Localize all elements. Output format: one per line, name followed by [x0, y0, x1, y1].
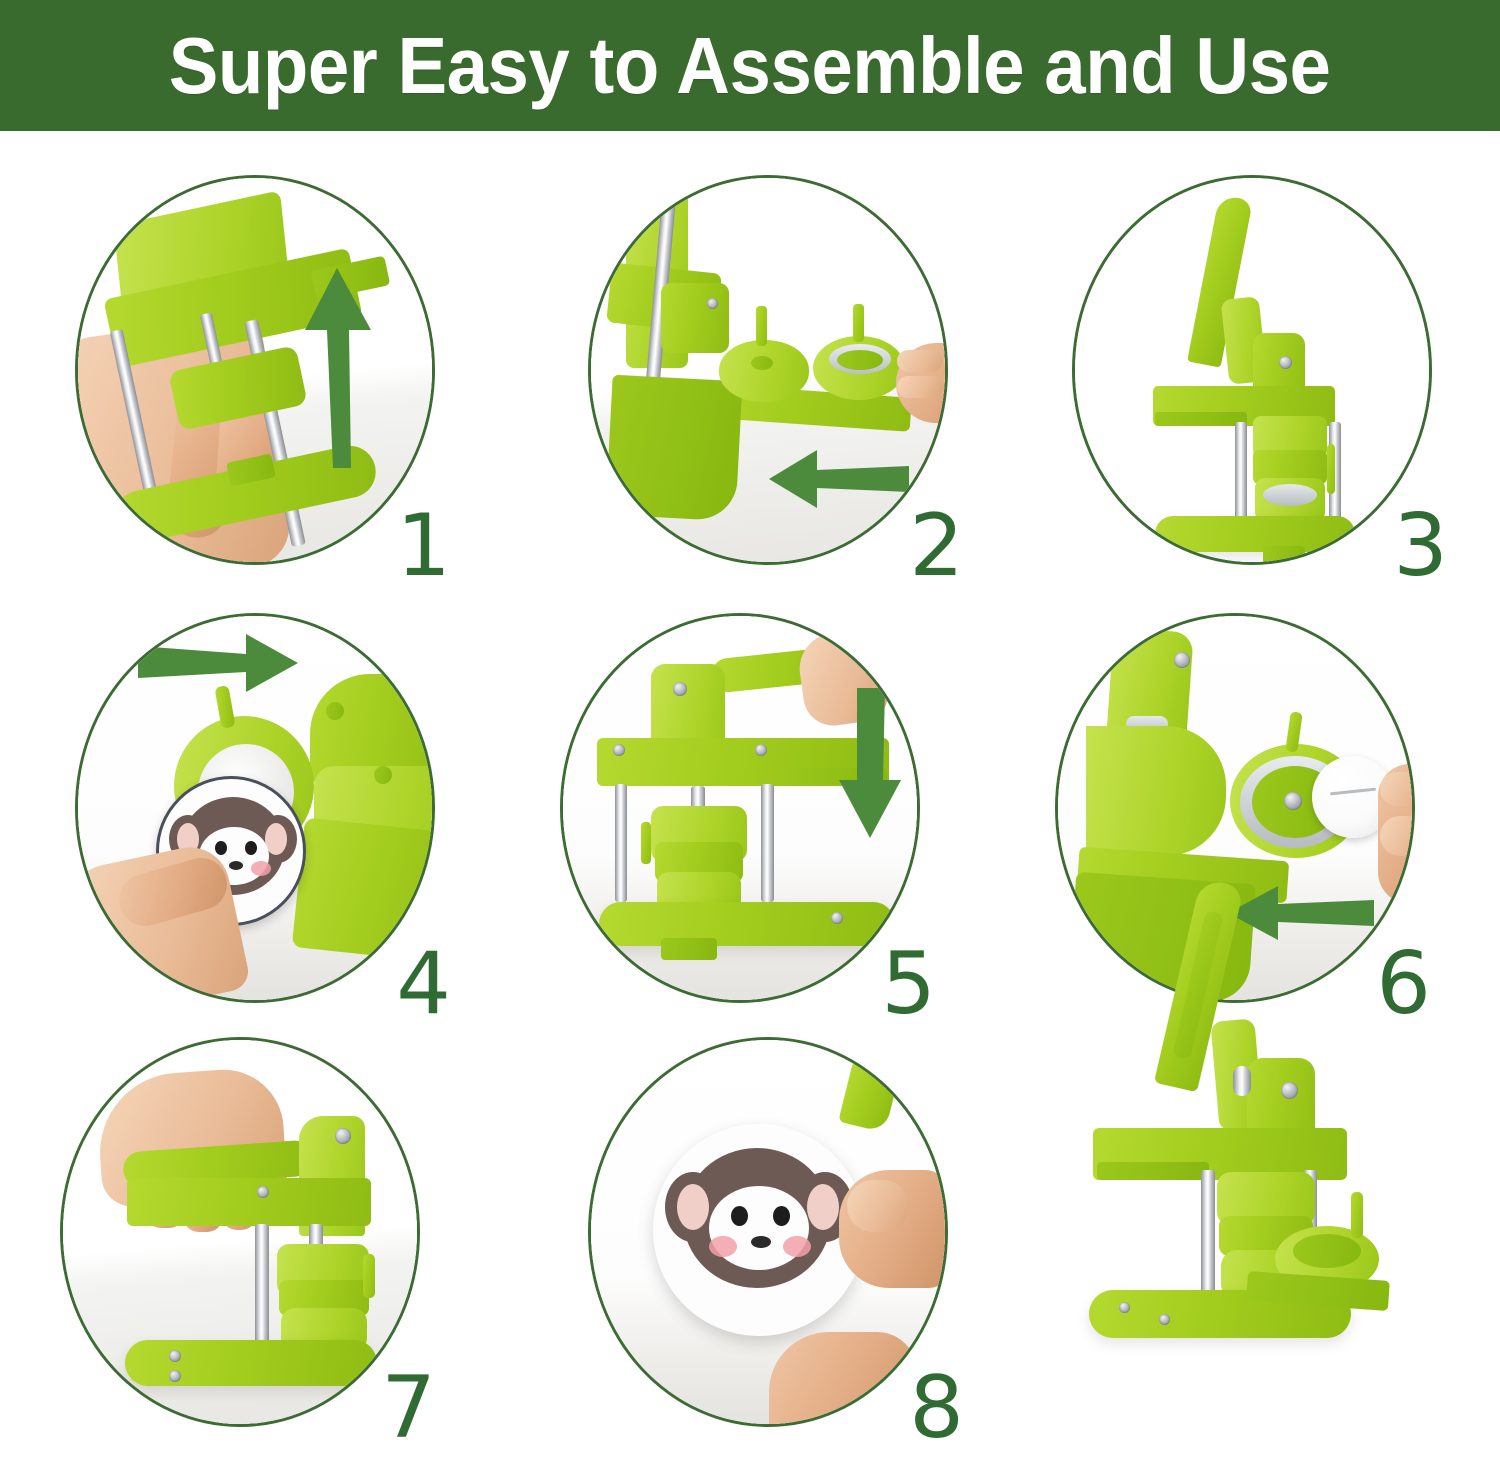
monkey-ear-left-inner [677, 1184, 709, 1230]
screw-icon [673, 682, 687, 696]
step-2-number: 2 [909, 503, 964, 589]
screw-icon [1119, 1302, 1130, 1313]
step-5-number: 5 [881, 941, 936, 1027]
step-3-photo [1075, 178, 1429, 562]
step-7-circle [60, 1037, 420, 1427]
die-latch [1327, 444, 1335, 494]
screw-icon [335, 1128, 351, 1144]
step-4-photo [78, 616, 432, 1000]
die-metal-ring [1263, 484, 1317, 506]
screw-icon [755, 744, 767, 756]
step-8: 8 [588, 1037, 960, 1437]
step-1-circle [75, 175, 435, 565]
step-2-photo [591, 178, 945, 562]
screw-icon [1279, 356, 1292, 369]
arrow-right-icon [138, 632, 298, 694]
monkey-cheek-right [783, 1236, 811, 1257]
screw-icon [1159, 1314, 1170, 1325]
step-2: 2 [588, 175, 960, 575]
screw-icon [831, 912, 843, 924]
finished-button [653, 1124, 865, 1336]
step-7: 7 [60, 1037, 432, 1437]
step-5-photo [563, 616, 917, 1000]
step-8-number: 8 [909, 1365, 964, 1451]
pivot-pin [1233, 1066, 1251, 1096]
monkey-face [709, 1186, 809, 1270]
step-2-circle [588, 175, 948, 565]
monkey-cheek-left [709, 1236, 737, 1257]
die-right-inner [837, 350, 883, 370]
step-3-circle [1072, 175, 1432, 565]
plate-teeth [1155, 412, 1247, 426]
plate-teeth [1097, 1162, 1209, 1180]
arrow-up-icon [293, 268, 383, 468]
step-4: 4 [75, 613, 447, 1013]
guide-rod-left [615, 784, 627, 902]
screw-icon [613, 744, 625, 756]
guide-rod-left [255, 1224, 269, 1354]
arrow-down-icon [835, 688, 905, 838]
monkey-eye-left [731, 1206, 748, 1226]
step-1-photo [78, 178, 432, 562]
finger [897, 350, 943, 372]
step-1: 1 [75, 175, 447, 575]
screw-icon [257, 1186, 269, 1198]
base-tab [1263, 546, 1305, 562]
finger [897, 376, 943, 398]
die-tray-inner [1293, 1234, 1361, 1268]
step-7-photo [63, 1040, 417, 1424]
base-tab [661, 938, 717, 960]
guide-rod-left [1235, 422, 1247, 520]
step-8-photo [591, 1040, 945, 1424]
step-4-circle [75, 613, 435, 1003]
step-5-circle [560, 613, 920, 1003]
die-left-pin [756, 306, 767, 346]
step-7-number: 7 [381, 1365, 436, 1451]
guide-rod-left [1201, 1170, 1215, 1306]
monkey-eye-right [245, 841, 257, 855]
top-plate [127, 1178, 371, 1226]
base-foot [605, 375, 742, 522]
screw-icon [169, 1370, 181, 1382]
instruction-infographic: Super Easy to Assemble and Use [0, 0, 1500, 1479]
screw-icon [1281, 1082, 1298, 1099]
finger [1380, 772, 1412, 806]
die-tray-pin [1351, 1192, 1363, 1238]
monkey-nose [751, 1236, 771, 1248]
die-right-pin [853, 304, 864, 342]
step-5: 5 [560, 613, 932, 1013]
die-latch [363, 1254, 375, 1298]
header-banner: Super Easy to Assemble and Use [0, 0, 1500, 131]
step-1-number: 1 [396, 503, 451, 589]
screw-icon [169, 1350, 181, 1362]
guide-rod-right [761, 784, 774, 902]
die-left-hole [751, 356, 773, 370]
screw-hole [374, 766, 392, 784]
monkey-eye-right [773, 1206, 790, 1226]
step-3-number: 3 [1393, 503, 1448, 589]
base-plate [1155, 516, 1355, 552]
screw-hole [326, 702, 344, 720]
monkey-cheek-right [251, 861, 271, 876]
finger [769, 1332, 917, 1424]
monkey-ear-right-inner [807, 1184, 839, 1230]
screw-icon [1284, 792, 1302, 810]
thumbnail [847, 1180, 909, 1232]
step-4-number: 4 [396, 941, 451, 1027]
press-pivot [661, 283, 729, 353]
monkey-nose [229, 861, 243, 870]
base-plate [599, 902, 895, 946]
die-left [719, 340, 809, 402]
screw-icon [707, 298, 718, 309]
arrow-left-icon [769, 448, 909, 510]
monkey-eye-left [215, 841, 227, 855]
page-title: Super Easy to Assemble and Use [169, 26, 1331, 106]
die-latch [641, 822, 651, 864]
screw-icon [1174, 652, 1190, 668]
finger [1380, 816, 1412, 856]
step-3: 3 [1072, 175, 1444, 575]
base-plate [125, 1340, 377, 1386]
die-holder [1086, 726, 1226, 856]
step-8-circle [588, 1037, 948, 1427]
hero-product-photo [1035, 870, 1485, 1470]
